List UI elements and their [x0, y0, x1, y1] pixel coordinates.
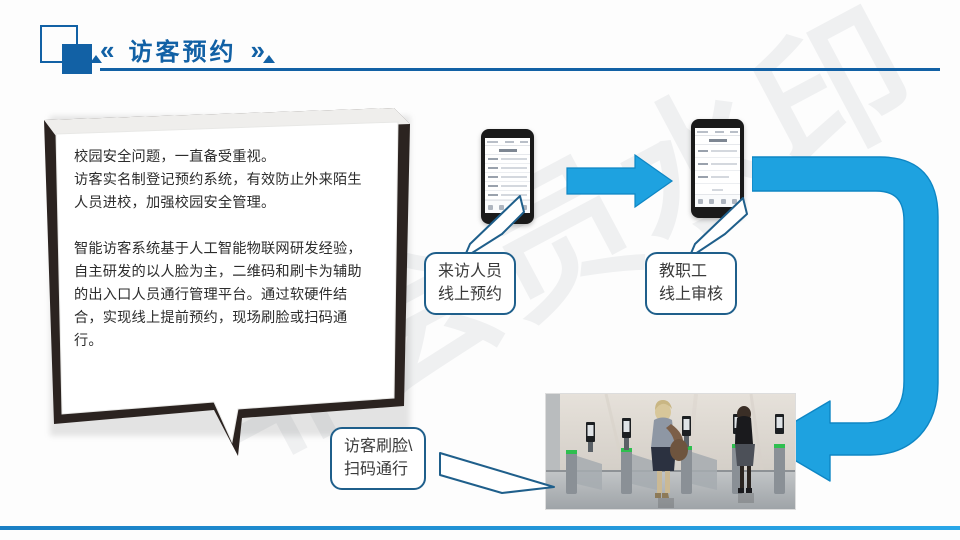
square-filled-logo — [62, 44, 92, 74]
phone-form-row — [695, 145, 740, 158]
phone-app-titlebar — [485, 146, 530, 155]
chevron-right-icon: » — [250, 37, 264, 63]
phone-statusbar — [695, 128, 740, 136]
footer-divider — [0, 526, 960, 530]
phone-form-row — [485, 155, 530, 164]
callout-label-visitor: 来访人员 线上预约 — [424, 252, 516, 315]
phone-form-row — [485, 164, 530, 173]
page-title: 访客预约 — [128, 32, 236, 67]
info-speech-bubble: 校园安全问题，一直备受重视。 访客实名制登记预约系统，有效防止外来陌生人员进校，… — [42, 106, 414, 456]
turnstile-gate-photo — [545, 393, 796, 510]
title-row: « 访客预约 » — [100, 32, 265, 67]
arrow-step1-to-step2 — [565, 152, 675, 210]
phone-form-row — [485, 173, 530, 182]
callout-face-qr-pass: 访客刷脸\ 扫码通行 — [330, 427, 426, 490]
phone-app-titlebar — [695, 136, 740, 145]
callout-tail-icon — [687, 196, 757, 260]
phone-form-row — [695, 171, 740, 184]
header-divider — [100, 68, 940, 71]
callout-tail-icon — [438, 449, 558, 511]
turnstile-scene — [546, 394, 795, 509]
callout-tail-icon — [462, 194, 532, 260]
phone-form-row — [695, 158, 740, 171]
chevron-left-icon: « — [100, 37, 114, 63]
speech-bubble-text: 校园安全问题，一直备受重视。 访客实名制登记预约系统，有效防止外来陌生人员进校，… — [74, 146, 374, 353]
phone-statusbar — [485, 138, 530, 146]
slide-canvas: 非会员水印 « 访客预约 » 校园安全问题，一直备受重视。 访客实名制登记预约系… — [0, 0, 960, 540]
callout-label-staff: 教职工 线上审核 — [645, 252, 737, 315]
slide-header: « 访客预约 » — [0, 0, 960, 80]
callout-staff-approval: 教职工 线上审核 — [645, 252, 737, 315]
callout-visitor-booking: 来访人员 线上预约 — [424, 252, 516, 315]
phone-form-row — [485, 182, 530, 191]
callout-label-pass: 访客刷脸\ 扫码通行 — [330, 427, 426, 490]
